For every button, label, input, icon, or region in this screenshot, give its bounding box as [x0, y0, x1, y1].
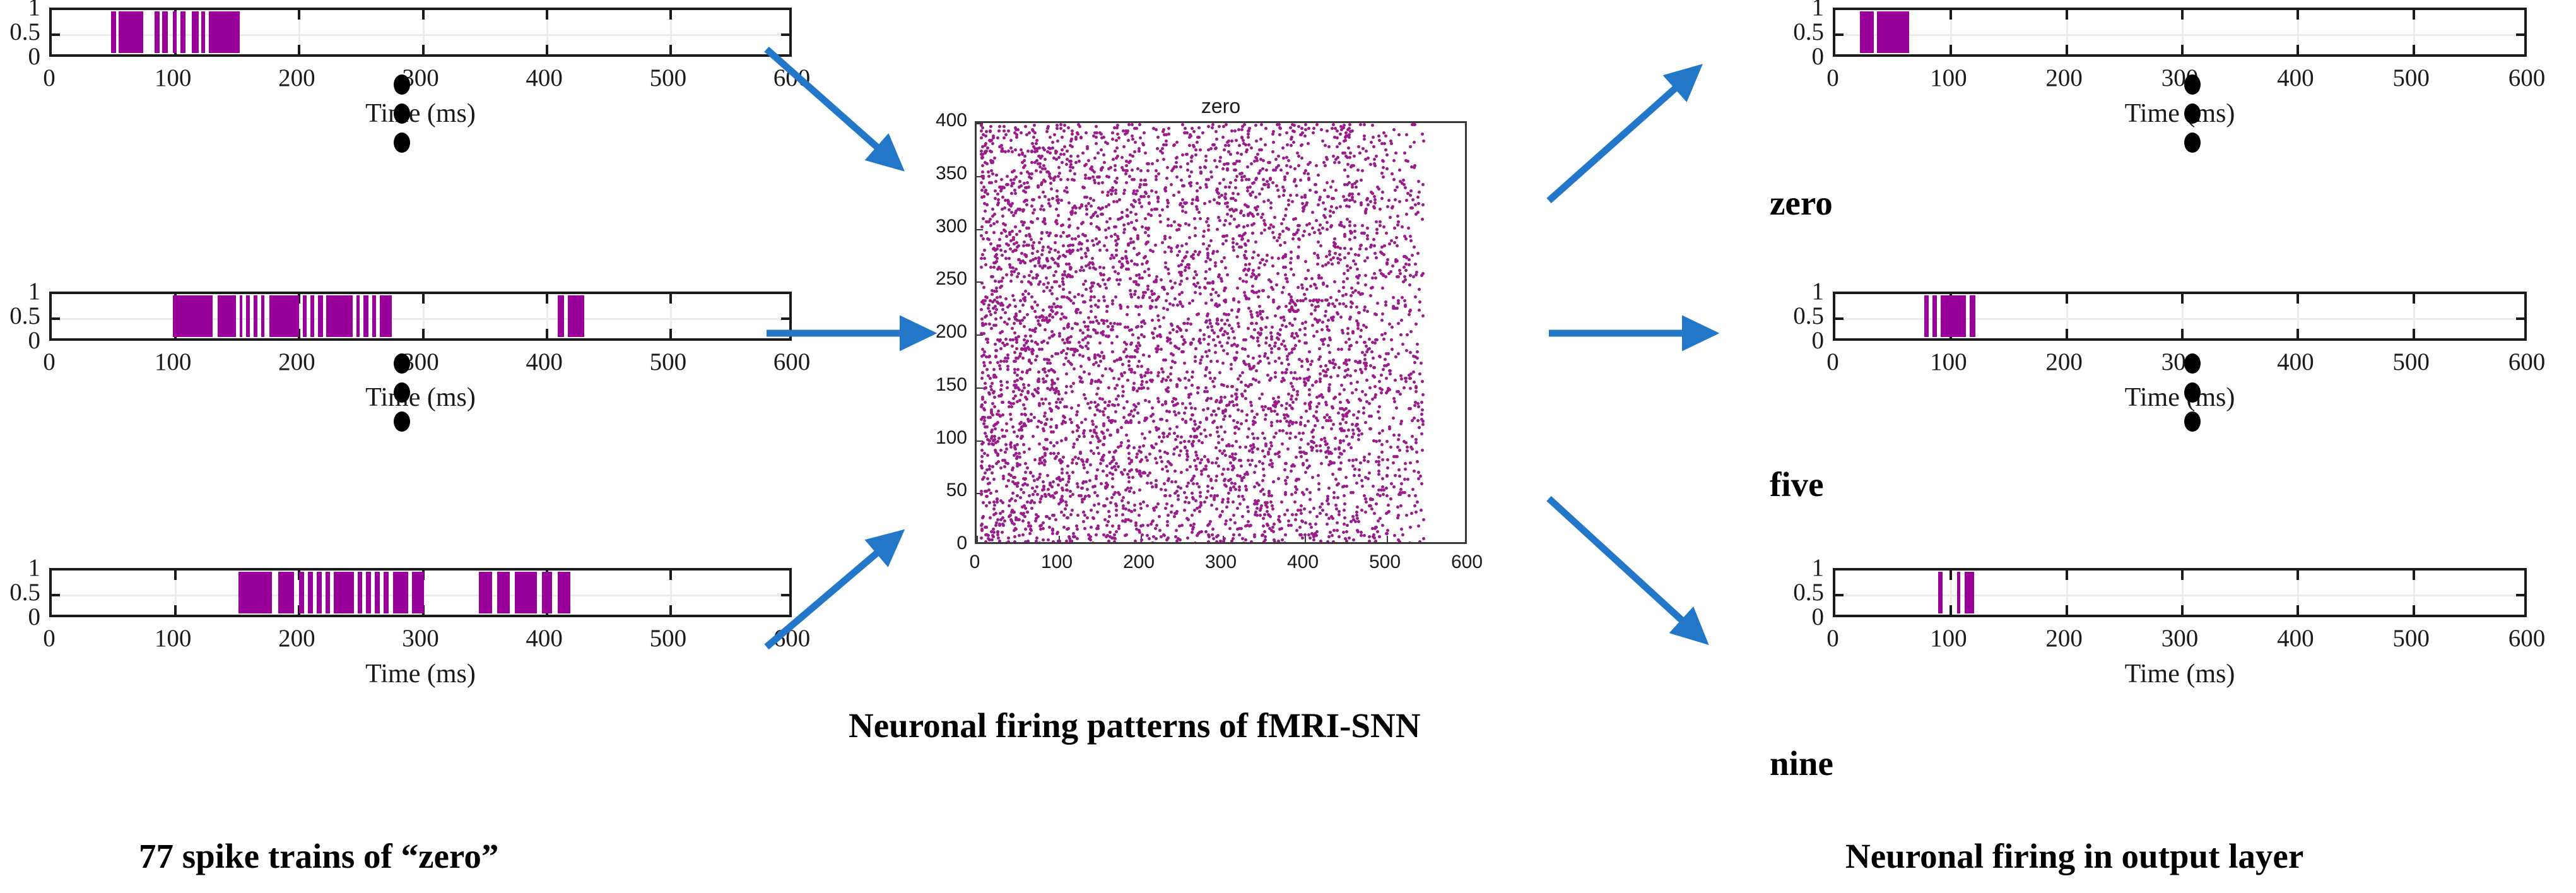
x-tick-label: 0: [1782, 350, 1883, 374]
x-tick-label: 600: [2476, 350, 2576, 374]
output-spike-train-zero: 10.500100200300400500600Time (ms): [1833, 8, 2527, 57]
ellipsis-dot: [2184, 411, 2201, 432]
tick-mark: [669, 571, 672, 580]
tick-mark: [1835, 33, 1844, 36]
spike-bar: [119, 11, 143, 53]
input-spike-train-1: 10.500100200300400500600Time (ms): [49, 8, 792, 57]
spike-bar: [246, 295, 250, 337]
output-label-five: five: [1770, 464, 1824, 504]
x-tick-label: 600: [741, 626, 842, 651]
tick-mark: [2516, 594, 2524, 596]
tick-mark: [1305, 536, 1306, 542]
y-tick-label: 0.5: [0, 304, 40, 328]
tick-mark: [977, 229, 983, 230]
y-tick-label: 1: [0, 0, 40, 20]
y-tick-label: 100: [910, 429, 967, 447]
x-tick-label: 300: [370, 350, 471, 374]
vertical-ellipsis-right-1: [2184, 74, 2201, 153]
spike-bar: [254, 295, 257, 337]
tick-mark: [2181, 10, 2184, 20]
y-tick-label: 1: [0, 555, 40, 580]
tick-mark: [52, 33, 60, 36]
spike-bar: [278, 572, 295, 613]
x-tick-label: 200: [2014, 626, 2115, 651]
spike-bar: [363, 295, 368, 337]
spike-bar: [173, 11, 177, 53]
spike-bar: [334, 572, 353, 613]
tick-mark: [781, 594, 789, 596]
tick-mark: [546, 45, 548, 54]
vertical-ellipsis-left-2: [394, 353, 410, 432]
spike-bar: [180, 11, 185, 53]
tick-mark: [2297, 45, 2299, 54]
x-tick-label: 400: [494, 66, 595, 90]
x-tick-label: 0: [937, 553, 1013, 572]
x-tick-label: 200: [246, 66, 347, 90]
ellipsis-dot: [394, 411, 410, 432]
spike-bar: [218, 295, 236, 337]
output-label-nine: nine: [1770, 743, 1833, 783]
y-tick-label: 50: [910, 481, 967, 500]
tick-mark: [669, 10, 672, 20]
x-tick-label: 100: [1898, 350, 1999, 374]
ellipsis-dot: [394, 103, 410, 124]
tick-mark: [2181, 329, 2184, 338]
spike-bar: [497, 572, 510, 613]
ellipsis-dot: [394, 74, 410, 95]
spike-bar: [375, 572, 380, 613]
y-tick-label: 0.5: [1755, 580, 1824, 605]
spike-bar: [162, 11, 168, 53]
spike-bar: [318, 295, 323, 337]
vertical-ellipsis-right-2: [2184, 353, 2201, 432]
x-axis-title: Time (ms): [295, 98, 547, 129]
x-tick-label: 0: [1782, 626, 1883, 651]
tick-mark: [2413, 571, 2415, 580]
caption-middle: Neuronal firing patterns of fMRI-SNN: [849, 706, 1420, 745]
tick-mark: [546, 10, 548, 20]
tick-mark: [2066, 10, 2068, 20]
spike-bar: [261, 295, 265, 337]
vertical-ellipsis-left-1: [394, 74, 410, 153]
x-tick-label: 300: [370, 66, 471, 90]
plot-frame: [49, 292, 792, 341]
spike-bar: [356, 295, 360, 337]
spike-bar: [155, 11, 160, 53]
spike-bar: [240, 295, 242, 337]
tick-mark: [1835, 317, 1844, 320]
spike-bar: [515, 572, 537, 613]
tick-mark: [1950, 605, 1952, 615]
spike-bar: [479, 572, 493, 613]
tick-mark: [2297, 10, 2299, 20]
gridline-horizontal: [1835, 34, 2524, 36]
input-spike-train-3: 10.500100200300400500600Time (ms): [49, 568, 792, 617]
y-tick-label: 0.5: [1755, 20, 1824, 44]
x-tick-label: 500: [1347, 553, 1423, 572]
tick-mark: [2413, 294, 2415, 304]
plot-frame: [49, 8, 792, 57]
spike-bar: [317, 572, 322, 613]
tick-mark: [2066, 45, 2068, 54]
tick-mark: [781, 33, 789, 36]
tick-mark: [2181, 45, 2184, 54]
plot-frame: [1833, 292, 2527, 341]
spike-bar: [201, 11, 205, 53]
output-label-zero: zero: [1770, 183, 1833, 223]
tick-mark: [546, 329, 548, 338]
gridline-horizontal: [1835, 318, 2524, 320]
spike-bar: [372, 295, 376, 337]
tick-mark: [977, 536, 978, 542]
x-tick-label: 300: [370, 626, 471, 651]
tick-mark: [2516, 33, 2524, 36]
tick-mark: [2181, 605, 2184, 615]
x-tick-label: 500: [2361, 626, 2462, 651]
figure-canvas: 10.500100200300400500600Time (ms) 10.500…: [0, 0, 2576, 893]
tick-mark: [2516, 317, 2524, 320]
spike-bar: [358, 572, 363, 613]
spike-bar: [303, 295, 307, 337]
tick-mark: [1950, 571, 1952, 580]
x-tick-label: 500: [618, 66, 719, 90]
x-tick-label: 400: [494, 350, 595, 374]
spike-bar: [192, 11, 199, 53]
tick-mark: [52, 317, 60, 320]
spike-bar: [1860, 11, 1874, 53]
x-tick-label: 400: [2245, 626, 2346, 651]
spike-bar: [1938, 572, 1943, 613]
arrow-group-output: [1549, 74, 1703, 634]
tick-mark: [2413, 605, 2415, 615]
x-tick-label: 300: [2129, 66, 2230, 90]
tick-mark: [2066, 605, 2068, 615]
spike-bar: [393, 572, 408, 613]
x-tick-label: 200: [246, 350, 347, 374]
y-tick-label: 1: [1755, 0, 1824, 20]
y-tick-label: 300: [910, 217, 967, 236]
x-tick-label: 100: [1898, 66, 1999, 90]
x-tick-label: 100: [122, 66, 223, 90]
y-tick-label: 0.5: [0, 20, 40, 44]
spike-bar: [238, 572, 272, 613]
y-tick-label: 350: [910, 164, 967, 183]
x-tick-label: 500: [2361, 66, 2462, 90]
y-tick-label: 1: [1755, 279, 1824, 304]
ellipsis-dot: [2184, 74, 2201, 95]
plot-frame: [1833, 568, 2527, 617]
x-tick-label: 200: [2014, 350, 2115, 374]
x-tick-label: 200: [2014, 66, 2115, 90]
x-tick-label: 500: [618, 626, 719, 651]
tick-mark: [2297, 294, 2299, 304]
plot-frame: [49, 568, 792, 617]
tick-mark: [1950, 10, 1952, 20]
tick-mark: [298, 45, 300, 54]
tick-mark: [174, 605, 177, 615]
spike-bar: [308, 572, 313, 613]
x-tick-label: 600: [2476, 626, 2576, 651]
tick-mark: [422, 294, 425, 304]
x-tick-label: 100: [122, 626, 223, 651]
spike-bar: [111, 11, 116, 53]
y-tick-label: 250: [910, 269, 967, 288]
x-axis-title: Time (ms): [2054, 659, 2306, 689]
y-tick-label: 150: [910, 376, 967, 394]
raster-frame: [975, 121, 1467, 544]
ellipsis-dot: [394, 382, 410, 403]
spike-bar: [269, 295, 299, 337]
y-tick-label: 0: [910, 534, 967, 553]
spike-bar: [1957, 572, 1961, 613]
x-axis-title: Time (ms): [2054, 382, 2306, 413]
x-tick-label: 600: [741, 66, 842, 90]
tick-mark: [174, 571, 177, 580]
gridline-horizontal: [52, 318, 789, 320]
x-tick-label: 200: [1101, 553, 1177, 572]
x-tick-label: 400: [2245, 66, 2346, 90]
x-tick-label: 400: [1265, 553, 1341, 572]
input-spike-train-2: 10.500100200300400500600Time (ms): [49, 292, 792, 341]
tick-mark: [781, 317, 789, 320]
tick-mark: [2413, 329, 2415, 338]
tick-mark: [2413, 10, 2415, 20]
y-tick-label: 0.5: [0, 580, 40, 605]
tick-mark: [2181, 571, 2184, 580]
tick-mark: [2066, 571, 2068, 580]
x-tick-label: 600: [1429, 553, 1505, 572]
y-tick-label: 1: [0, 279, 40, 304]
ellipsis-dot: [394, 133, 410, 153]
x-axis-title: Time (ms): [2054, 98, 2306, 129]
ellipsis-dot: [2184, 353, 2201, 374]
ellipsis-dot: [2184, 133, 2201, 153]
spike-bar: [173, 295, 213, 337]
output-spike-train-nine: 10.500100200300400500600Time (ms): [1833, 568, 2527, 617]
spike-bar: [558, 572, 570, 613]
x-axis-title: Time (ms): [295, 382, 547, 413]
x-tick-label: 0: [1782, 66, 1883, 90]
tick-mark: [422, 329, 425, 338]
tick-mark: [1835, 594, 1844, 596]
tick-mark: [669, 294, 672, 304]
spike-bar: [299, 572, 304, 613]
tick-mark: [422, 45, 425, 54]
spike-bar: [366, 572, 371, 613]
raster-title: zero: [975, 95, 1467, 118]
x-tick-label: 0: [0, 66, 100, 90]
tick-mark: [2066, 329, 2068, 338]
x-tick-label: 100: [122, 350, 223, 374]
x-tick-label: 0: [0, 626, 100, 651]
tick-mark: [669, 605, 672, 615]
spike-bar: [412, 572, 425, 613]
x-tick-label: 600: [741, 350, 842, 374]
spike-bar: [568, 295, 584, 337]
tick-mark: [2066, 294, 2068, 304]
spike-bar: [1924, 295, 1929, 337]
spike-bar: [326, 295, 352, 337]
spike-bar: [542, 572, 552, 613]
y-tick-label: 0.5: [1755, 304, 1824, 328]
caption-left: 77 spike trains of “zero”: [139, 836, 498, 876]
x-tick-label: 300: [2129, 350, 2230, 374]
tick-mark: [2297, 571, 2299, 580]
arrow-raster-to-output-zero: [1549, 74, 1691, 201]
spike-bar: [209, 11, 240, 53]
output-spike-train-five: 10.500100200300400500600Time (ms): [1833, 292, 2527, 341]
tick-mark: [422, 10, 425, 20]
spike-bar: [1932, 295, 1937, 337]
tick-mark: [52, 594, 60, 596]
spike-bar: [384, 572, 389, 613]
x-tick-label: 500: [2361, 350, 2462, 374]
spike-bar: [310, 295, 314, 337]
arrow-raster-to-output-nine: [1549, 499, 1697, 634]
spike-bar: [326, 572, 331, 613]
plot-frame: [1833, 8, 2527, 57]
spike-bar: [1877, 11, 1909, 53]
spike-bar: [1941, 295, 1966, 337]
tick-mark: [977, 387, 983, 389]
y-tick-label: 1: [1755, 555, 1824, 580]
tick-mark: [1387, 536, 1388, 542]
tick-mark: [298, 10, 300, 20]
x-tick-label: 300: [2129, 626, 2230, 651]
x-tick-label: 600: [2476, 66, 2576, 90]
ellipsis-dot: [2184, 103, 2201, 124]
raster-plot: zero010020030040050060005010015020025030…: [975, 121, 1467, 544]
tick-mark: [546, 294, 548, 304]
x-tick-label: 400: [2245, 350, 2346, 374]
x-tick-label: 300: [1183, 553, 1259, 572]
tick-mark: [669, 45, 672, 54]
tick-mark: [2297, 605, 2299, 615]
x-tick-label: 400: [494, 626, 595, 651]
tick-mark: [669, 329, 672, 338]
spike-bar: [1970, 295, 1975, 337]
x-tick-label: 0: [0, 350, 100, 374]
y-tick-label: 200: [910, 322, 967, 341]
x-tick-label: 200: [246, 626, 347, 651]
ellipsis-dot: [394, 353, 410, 374]
x-axis-title: Time (ms): [295, 659, 547, 689]
x-tick-label: 500: [618, 350, 719, 374]
tick-mark: [1950, 45, 1952, 54]
tick-mark: [2297, 329, 2299, 338]
spike-bar: [380, 295, 392, 337]
spike-bar: [1965, 572, 1974, 613]
x-tick-label: 100: [1898, 626, 1999, 651]
tick-mark: [2413, 45, 2415, 54]
tick-mark: [2181, 294, 2184, 304]
ellipsis-dot: [2184, 382, 2201, 403]
y-tick-label: 400: [910, 111, 967, 130]
spike-bar: [558, 295, 564, 337]
x-tick-label: 100: [1019, 553, 1095, 572]
caption-right: Neuronal firing in output layer: [1845, 836, 2303, 876]
